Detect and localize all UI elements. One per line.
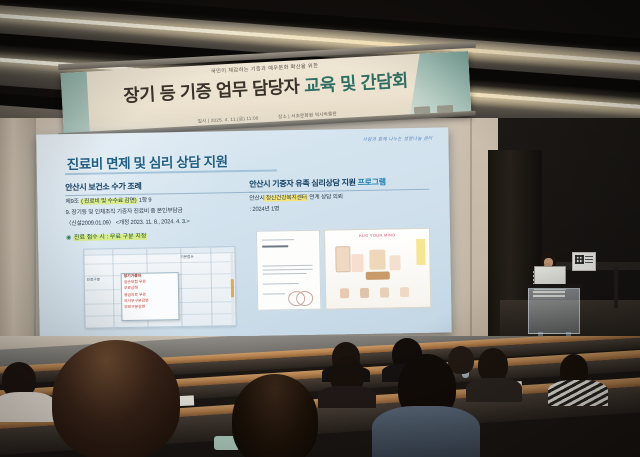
slide-right-column: 안산시 기증자 유족 심리상담 지원 프로그램 안산시정신건강복지센터 연계 상… [249, 176, 430, 215]
wall-seam-2 [470, 118, 472, 368]
right-column-heading: 안산시 기증자 유족 심리상담 지원 프로그램 [249, 176, 429, 190]
right-column-line1: 안산시정신건강복지센터 연계 상담 의뢰 [249, 193, 429, 204]
left-column-line2: 9. 장기등 및 인체조직 기증자 진료비 중 본인부담금 [66, 207, 256, 218]
lecture-hall-photo: 국민이 체감하는 기증과 예우문화 확산을 위한 장기 등 기증 업무 담당자 … [0, 0, 640, 457]
projection-screen: 사랑과 함께 나누는 생명나눔 센터 진료비 면제 및 심리 상담 지원 안산시… [36, 127, 452, 339]
slide-title: 진료비 면제 및 심리 상담 지원 [67, 150, 228, 173]
screenshot-scrollbar-thumb[interactable] [231, 279, 234, 297]
right-heading-accent: 프로그램 [358, 178, 386, 187]
illustration-table [366, 271, 390, 279]
bullet-text: 진료 접수 시 : 무료 구분 지정 [73, 234, 147, 241]
left-column-heading: 안산시 보건소 수가 조례 [65, 179, 255, 193]
procedure-type-dropdown[interactable]: 장기기증자 실손보험 무료 무료상해 응급의료 무료 의사부구분감면 무료구분감… [121, 272, 180, 321]
mind-care-poster: HUG YOUR MIND [324, 228, 431, 310]
qr-code-icon [575, 255, 584, 264]
poster-color-band [416, 239, 425, 265]
right-line1-prefix: 안산시 [249, 196, 265, 202]
right-heading-prefix: 안산시 기증자 유족 심리상담 지원 [249, 178, 358, 189]
slide-left-column: 안산시 보건소 수가 조례 제9조 ( 진료비 및 수수료 감면) 1항 9 9… [65, 179, 256, 242]
qr-info-sign [572, 252, 596, 271]
screenshot-caption: 기본접수 [180, 255, 193, 260]
banner-title-main: 장기 등 기증 업무 담당자 [123, 76, 305, 106]
bullet-marker-icon: ◉ [66, 235, 71, 241]
illustration-figure [369, 250, 385, 270]
poster-title: HUG YOUR MIND [359, 232, 396, 238]
illustration-figure [389, 255, 400, 270]
line1-suffix: 1항 9 [137, 198, 151, 204]
reception-system-screenshot: 기본접수 진료구분 장기기증자 실손보험 무료 무료상해 응급의료 무료 의사부… [83, 246, 236, 329]
audience-shoulder [318, 386, 376, 408]
dropdown-option[interactable]: 무료구분감면 [122, 304, 178, 311]
screenshot-toolbar [84, 247, 234, 256]
wall-seam [34, 118, 36, 368]
illustration-figure [335, 246, 350, 272]
slide-handwritten-mark: 사랑과 함께 나누는 생명나눔 센터 [363, 136, 433, 143]
audience-shoulder [466, 378, 522, 402]
banner-title-accent: 교육 및 간담회 [304, 70, 409, 96]
illustration-icon-row [380, 287, 389, 297]
illustration-icon-row [340, 288, 349, 298]
sign-text-lines [585, 256, 593, 257]
illustration-icon-row [400, 287, 409, 297]
illustration-figure [351, 254, 363, 272]
document-seal-icon-2 [296, 291, 313, 306]
audience-head-foreground-right [232, 374, 318, 457]
stage-table [556, 262, 640, 270]
left-column-line3: 〈신설2009.01.09〉 <개정 2023. 11. 8., 2024. 4… [66, 217, 256, 228]
acrylic-podium [528, 288, 580, 334]
line1-prefix: 제9조 [65, 199, 80, 205]
audience-shoulder [372, 406, 480, 457]
screenshot-field-label: 진료구분 [87, 278, 100, 283]
illustration-icon-row [360, 288, 369, 298]
audience-shoulder [0, 392, 56, 422]
stage-table-leg [614, 268, 618, 308]
support-document-image [256, 230, 321, 311]
audience-head-foreground [52, 340, 180, 457]
left-column-line1: 제9조 ( 진료비 및 수수료 감면) 1항 9 [65, 196, 255, 207]
audience-head [478, 348, 508, 382]
right-line1-highlight: 정신건강복지센터 [265, 195, 308, 202]
line1-highlight: ( 진료비 및 수수료 감면) [80, 198, 137, 205]
audience-shoulder [548, 380, 608, 406]
right-line1-suffix: 연계 상담 의뢰 [308, 194, 343, 201]
audience-area [0, 336, 640, 457]
wall-pillar [0, 118, 34, 368]
